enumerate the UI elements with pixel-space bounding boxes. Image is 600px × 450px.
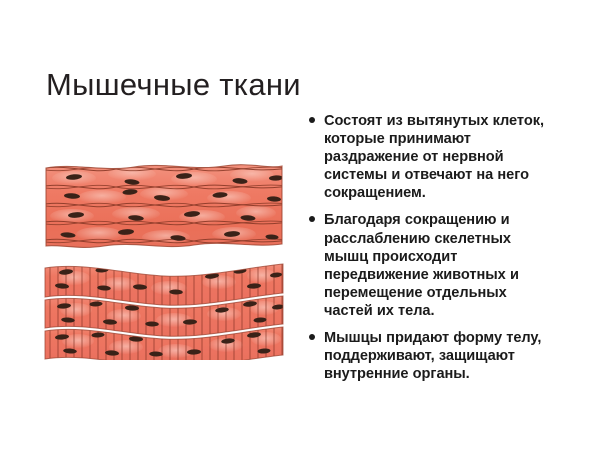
list-item: Мышцы придают форму телу, поддерживают, … bbox=[306, 329, 556, 383]
bullet-list: Состоят из вытянутых клеток, которые при… bbox=[306, 112, 556, 383]
round-bullet-icon bbox=[309, 117, 315, 123]
slide-canvas: Мышечные ткани bbox=[0, 0, 600, 450]
illustration-column bbox=[44, 160, 286, 360]
list-item: Состоят из вытянутых клеток, которые при… bbox=[306, 112, 556, 202]
page-title: Мышечные ткани bbox=[46, 67, 466, 103]
smooth-muscle-tissue-image bbox=[44, 160, 284, 250]
bullet-text: Мышцы придают форму телу, поддерживают, … bbox=[324, 329, 556, 383]
striated-muscle-svg bbox=[44, 262, 284, 360]
bullet-text: Благодаря сокращению и расслаблению скел… bbox=[324, 211, 556, 320]
striated-muscle-tissue-image bbox=[44, 262, 284, 360]
smooth-muscle-svg bbox=[44, 160, 284, 250]
round-bullet-icon bbox=[309, 216, 315, 222]
round-bullet-icon bbox=[309, 334, 315, 340]
bullet-text: Состоят из вытянутых клеток, которые при… bbox=[324, 112, 556, 202]
list-item: Благодаря сокращению и расслаблению скел… bbox=[306, 211, 556, 320]
